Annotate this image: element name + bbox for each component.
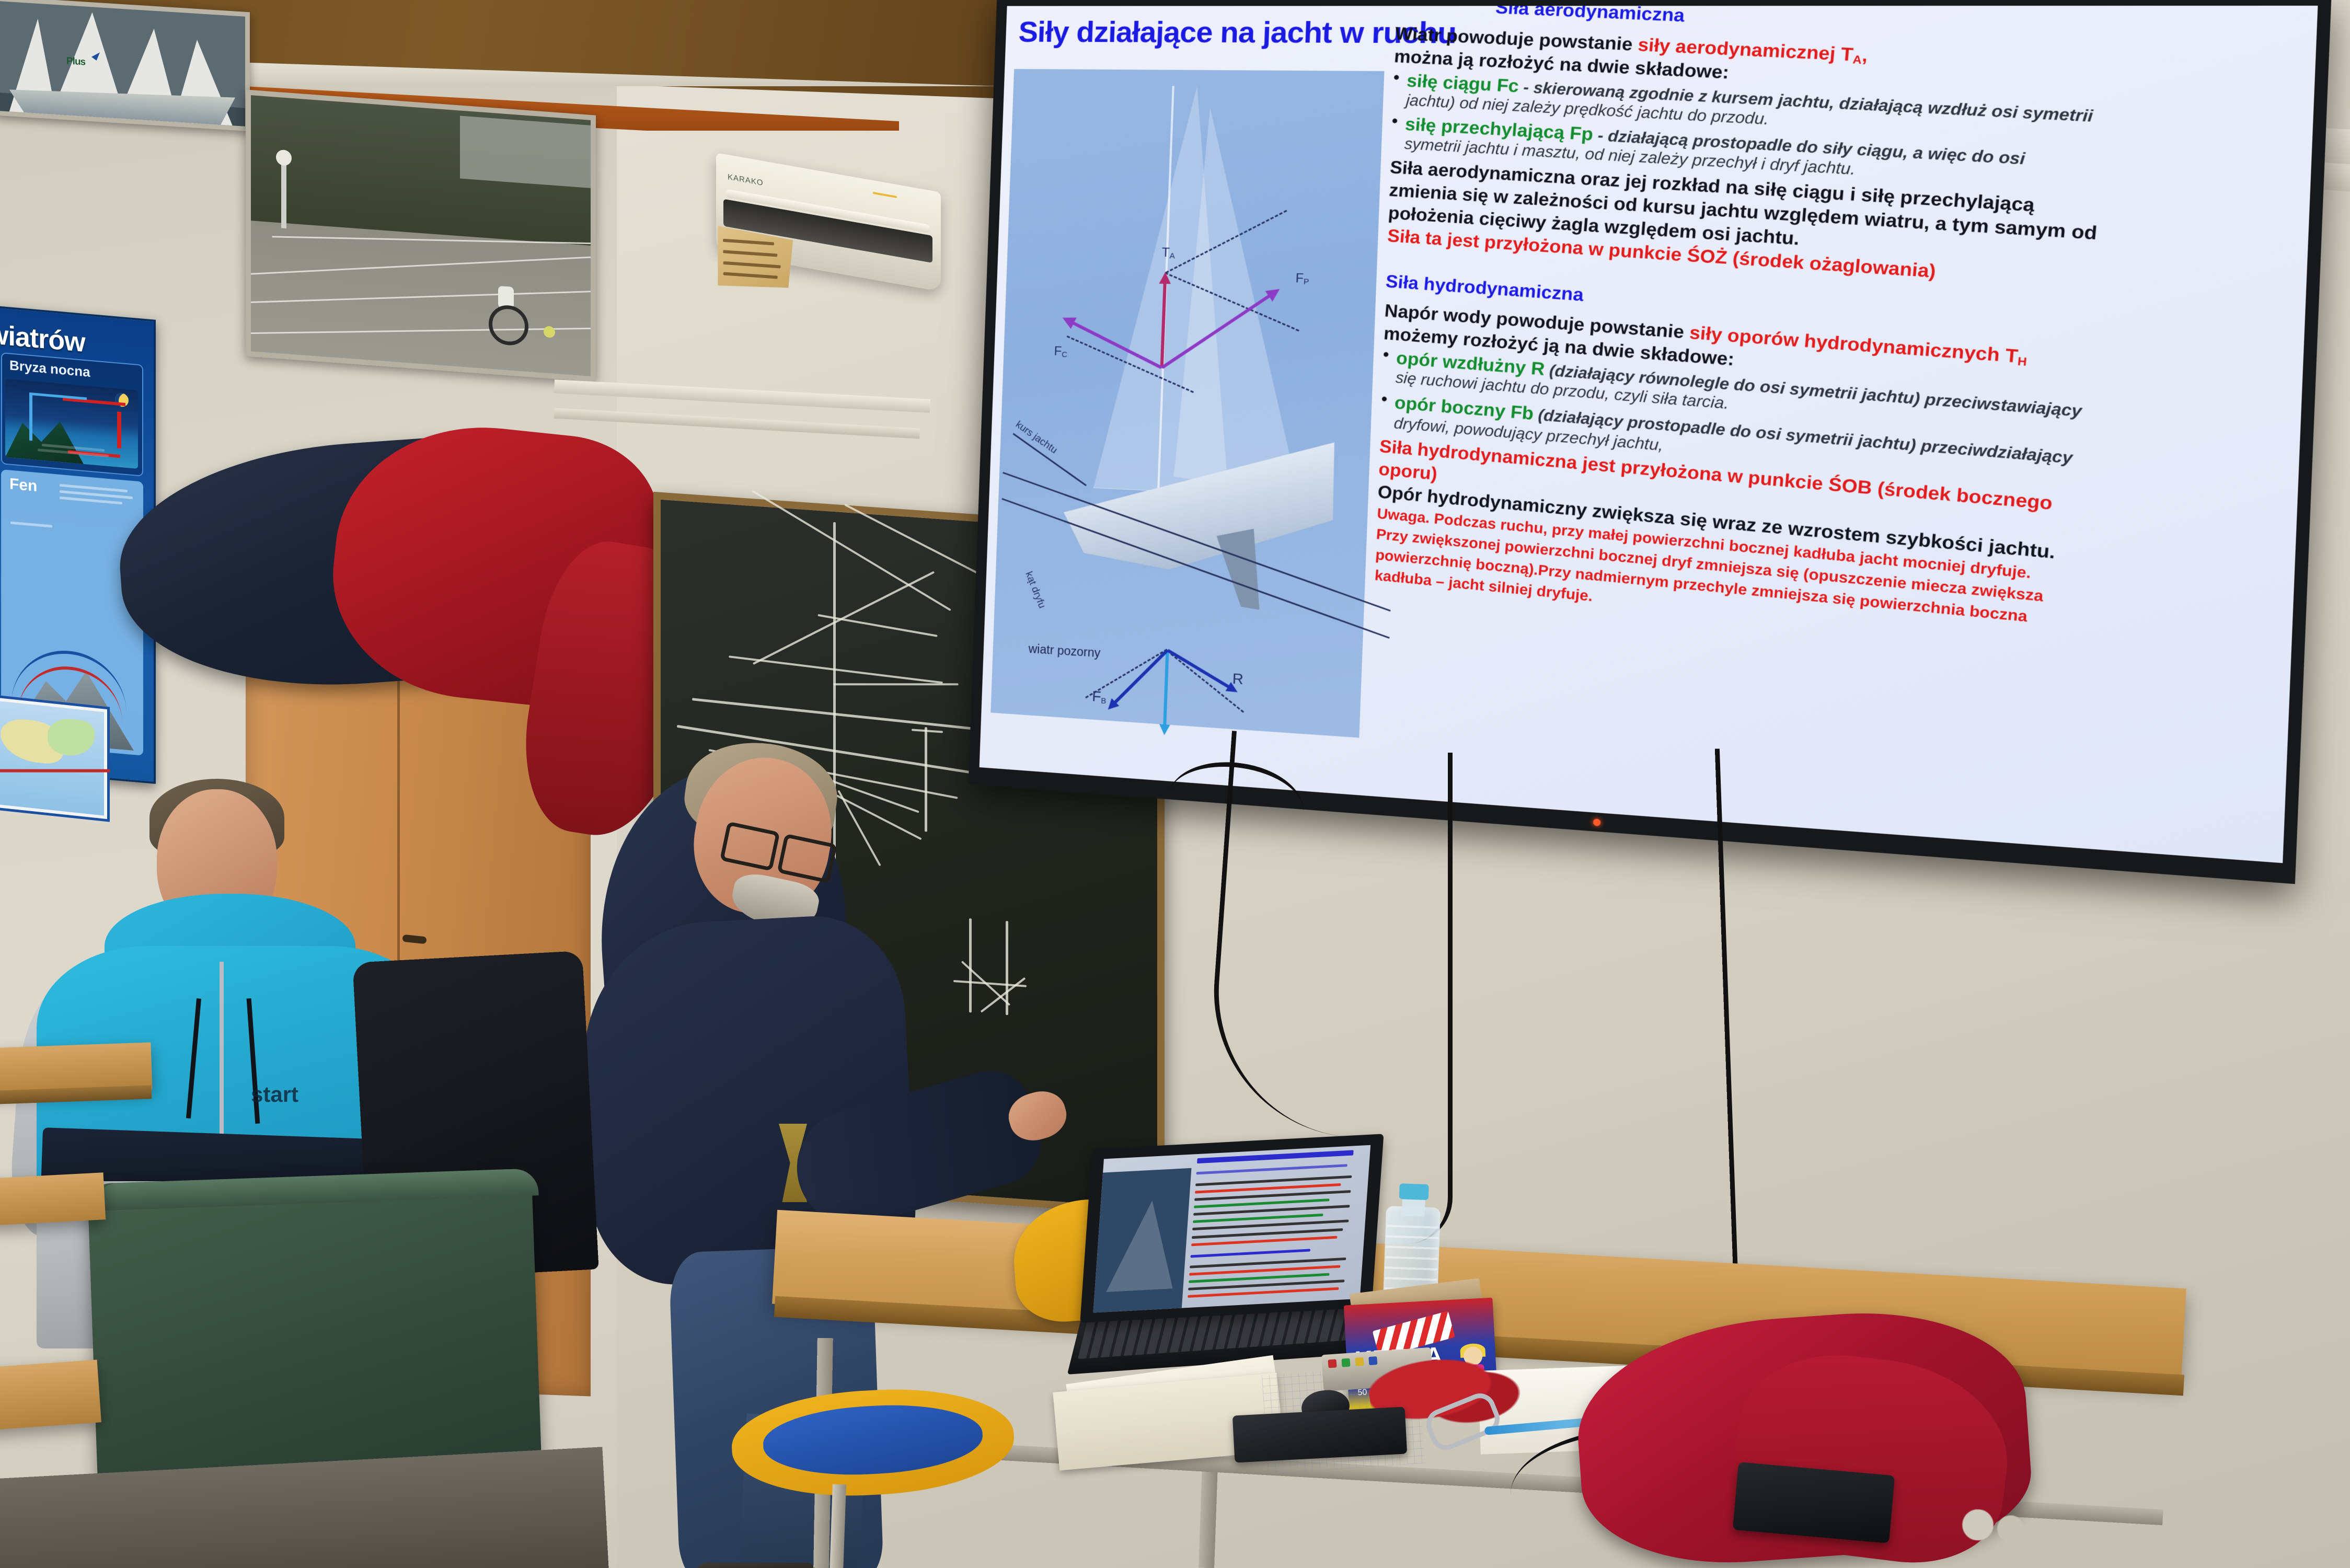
smartphone[interactable] — [1232, 1406, 1407, 1462]
laptop-lid — [1080, 1134, 1384, 1323]
student-desk[interactable] — [0, 1359, 101, 1431]
vector-label-FP: FP — [1295, 271, 1309, 287]
photo-athlete — [489, 285, 525, 345]
stool-leg — [830, 1484, 846, 1568]
ac-status-led — [873, 192, 897, 198]
ac-brand-label: KARAKO — [728, 172, 764, 188]
student-desk[interactable] — [0, 1172, 106, 1226]
vector-label-FB: FB — [1092, 688, 1107, 706]
annotation-wiatr-pozorny: wiatr pozorny — [1028, 642, 1101, 661]
sailing-regatta-photo: Plus — [0, 0, 250, 131]
photo-sky — [460, 116, 591, 188]
panel-caption — [10, 522, 52, 528]
panel-title: Fen — [9, 475, 37, 495]
slide-title: Siły działające na jacht w ruchu — [1018, 15, 1457, 50]
arrow-blue — [29, 394, 32, 441]
mountain-shape — [5, 411, 84, 464]
vector-label-FC: FC — [1054, 344, 1068, 359]
vector-label-R: R — [1232, 670, 1243, 688]
panel-illustration — [5, 379, 138, 469]
tv-screen: Siły działające na jacht w ruchu — [980, 6, 2318, 863]
student-hoodie-logo: start — [251, 1082, 298, 1107]
vector-label-TA: TA — [1161, 246, 1175, 261]
poster-panel-night-breeze: Bryza nocna — [1, 352, 143, 477]
panel-title: Bryza nocna — [9, 357, 90, 381]
diagram-keel — [1216, 528, 1271, 615]
arrow-red — [117, 411, 121, 448]
small-items — [1949, 1507, 2045, 1545]
bottle-cap[interactable] — [1399, 1183, 1429, 1200]
panel-caption — [60, 497, 122, 504]
slide-text-body: Siła aerodynamiczna Wiatr powoduje powst… — [1367, 11, 2294, 835]
power-cable — [1406, 753, 1453, 1244]
arrow-blue — [29, 393, 87, 400]
wheelchair-tennis-photo — [246, 89, 596, 382]
photo-pole — [281, 160, 286, 228]
poster-title: wiatrów — [0, 319, 85, 359]
wall-mounted-tv[interactable]: Siły działające na jacht w ruchu — [969, 0, 2332, 884]
tv-power-led — [1593, 818, 1601, 826]
sail-logo-text: Plus — [66, 55, 85, 68]
vector-R — [1168, 650, 1238, 692]
presenter-shoe — [694, 1563, 814, 1568]
power-supply-brick — [1733, 1462, 1895, 1543]
vector-TH — [1165, 650, 1168, 735]
laptop[interactable] — [1080, 1132, 1387, 1371]
laptop-slide-title — [1197, 1150, 1354, 1163]
laptop-slide-boat — [1106, 1199, 1179, 1292]
laptop-slide-image — [1093, 1168, 1191, 1313]
classroom-scene: Plus wiatrów Bryza nocna — [0, 0, 2350, 1568]
map-front-line — [0, 769, 110, 773]
annotation-kat-dryfu: kąt dryfu — [1022, 570, 1047, 610]
photo-track — [251, 221, 591, 376]
laptop-screen — [1093, 1145, 1370, 1313]
slide-diagram-image: TA FP FC kurs jachtu kąt dryfu wiatr poz… — [990, 69, 1384, 738]
